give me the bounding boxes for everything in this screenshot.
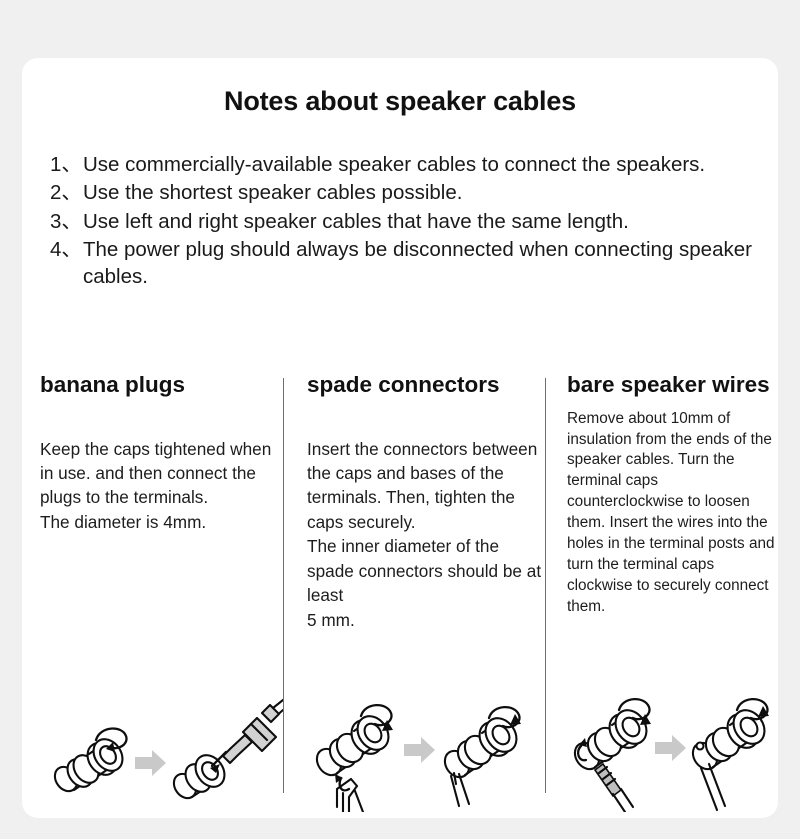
column-body-text: Keep the caps tightened when in use. and… <box>40 437 283 535</box>
list-item-text: Use left and right speaker cables that h… <box>83 208 762 235</box>
notes-card: Notes about speaker cables 1、 Use commer… <box>22 58 778 818</box>
connector-columns: banana plugs Keep the caps tightened whe… <box>22 370 778 818</box>
list-item-number: 4、 <box>50 236 83 263</box>
list-item: 1、 Use commercially-available speaker ca… <box>50 151 762 178</box>
notes-list: 1、 Use commercially-available speaker ca… <box>50 151 762 291</box>
column-divider <box>283 378 284 793</box>
spade-connector-insert-icon <box>312 705 395 812</box>
list-item: 3、 Use left and right speaker cables tha… <box>50 208 762 235</box>
list-item-number: 3、 <box>50 208 83 235</box>
column-body-text: Insert the connectors between the caps a… <box>307 437 545 632</box>
list-item: 2、 Use the shortest speaker cables possi… <box>50 179 762 206</box>
banana-plug-insert-icon <box>169 700 283 802</box>
right-block-arrow-icon <box>655 735 686 761</box>
stripped-wire-insert-icon <box>570 699 653 812</box>
column-spade-connectors: spade connectors Insert the connectors b… <box>307 370 545 818</box>
column-heading: banana plugs <box>40 370 283 399</box>
column-heading: spade connectors <box>307 370 545 399</box>
list-item-number: 2、 <box>50 179 83 206</box>
figure-spade-connectors <box>307 694 545 812</box>
terminal-cap-tighten-on-wire-icon <box>688 699 771 810</box>
page-title: Notes about speaker cables <box>22 86 778 117</box>
list-item-text: Use the shortest speaker cables possible… <box>83 179 762 206</box>
right-block-arrow-icon <box>404 737 435 763</box>
column-divider <box>545 378 546 793</box>
list-item-number: 1、 <box>50 151 83 178</box>
list-item-text: The power plug should always be disconne… <box>83 236 762 291</box>
column-banana-plugs: banana plugs Keep the caps tightened whe… <box>40 370 283 818</box>
right-block-arrow-icon <box>135 750 166 776</box>
column-bare-speaker-wires: bare speaker wires Remove about 10mm of … <box>567 370 778 818</box>
column-body-text: Remove about 10mm of insulation from the… <box>567 409 778 619</box>
figure-bare-speaker-wires <box>567 694 778 812</box>
list-item: 4、 The power plug should always be disco… <box>50 236 762 291</box>
column-heading: bare speaker wires <box>567 370 778 399</box>
list-item-text: Use commercially-available speaker cable… <box>83 151 762 178</box>
figure-banana-plugs <box>40 694 283 812</box>
terminal-cap-rotate-icon <box>50 729 128 796</box>
terminal-cap-tighten-icon <box>440 707 523 806</box>
